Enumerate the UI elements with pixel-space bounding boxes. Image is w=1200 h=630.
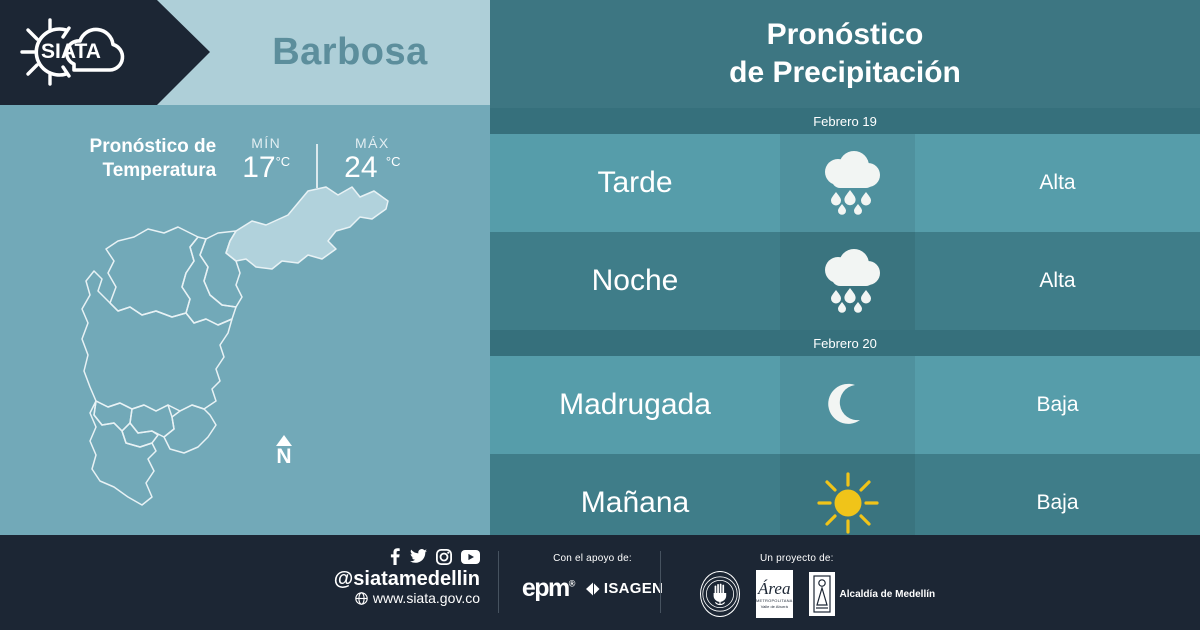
social-handle[interactable]: @siatamedellin <box>330 568 480 590</box>
area-logo-sub2: Valle de Aburrá <box>761 604 788 609</box>
temperature-min-unit: °C <box>276 154 291 169</box>
isagen-mark-icon <box>586 582 601 596</box>
footer-divider <box>498 551 499 613</box>
support-logos: epm® ISAGEN <box>505 576 680 601</box>
rain-cloud-icon <box>780 232 915 330</box>
epm-logo: epm® <box>522 576 574 601</box>
project-logos: Área METROPOLITANA Valle de Aburrá Alcal… <box>700 570 930 618</box>
municipality-caldas <box>90 401 156 505</box>
facebook-icon[interactable] <box>388 548 401 565</box>
isagen-logo-text: ISAGEN <box>604 580 663 597</box>
temperature-max-unit: °C <box>386 154 401 169</box>
city-title: Barbosa <box>210 0 490 105</box>
alcaldia-de-medellin-logo: Alcaldía de Medellín <box>809 572 936 616</box>
area-logo-sub1: METROPOLITANA <box>756 598 793 603</box>
siata-logo-text: SIATA <box>41 40 101 63</box>
siata-logo-badge: SIATA <box>0 0 210 105</box>
social-website[interactable]: www.siata.gov.co <box>330 590 480 606</box>
weather-forecast-infographic: SIATA Barbosa Pronóstico de Temperatura … <box>0 0 1200 630</box>
municipality-bello <box>106 227 198 317</box>
universidad-de-medellin-seal <box>700 571 740 617</box>
municipality-barbosa <box>226 187 388 269</box>
table-row: Noche <box>490 232 1200 330</box>
left-header: SIATA Barbosa <box>0 0 490 105</box>
temperature-min-label: MÍN <box>251 135 281 151</box>
temperature-max-label: MÁX <box>355 135 390 151</box>
probability-label: Baja <box>915 356 1200 454</box>
date-band: Febrero 20 <box>490 330 1200 356</box>
footer-divider <box>660 551 661 613</box>
twitter-icon[interactable] <box>410 549 427 564</box>
alcaldia-logo-text: Alcaldía de Medellín <box>840 589 936 600</box>
left-body: Pronóstico de Temperatura MÍN 17°C MÁX 2… <box>0 105 490 535</box>
precipitation-title: Pronóstico de Precipitación <box>490 0 1200 108</box>
precipitation-panel: Pronóstico de Precipitación Febrero 19 T… <box>490 0 1200 535</box>
north-arrow: N <box>276 435 292 467</box>
date-band: Febrero 19 <box>490 108 1200 134</box>
social-icons <box>330 548 480 565</box>
youtube-icon[interactable] <box>461 550 480 564</box>
social-block: @siatamedellin www.siata.gov.co <box>330 548 480 606</box>
globe-icon <box>355 592 368 605</box>
area-metropolitana-logo: Área METROPOLITANA Valle de Aburrá <box>756 570 793 618</box>
precipitation-title-line1: Pronóstico <box>767 16 924 54</box>
table-row: Tarde <box>490 134 1200 232</box>
table-row: Madrugada Baja <box>490 356 1200 454</box>
north-arrow-label: N <box>276 447 291 467</box>
left-panel: SIATA Barbosa Pronóstico de Temperatura … <box>0 0 490 535</box>
instagram-icon[interactable] <box>436 549 452 565</box>
precipitation-title-line2: de Precipitación <box>729 54 961 92</box>
probability-label: Alta <box>915 232 1200 330</box>
probability-label: Alta <box>915 134 1200 232</box>
project-block: Un proyecto de: <box>700 553 930 618</box>
alcaldia-crest-icon <box>809 572 835 616</box>
aburra-valley-map <box>60 175 430 525</box>
period-label: Noche <box>490 232 780 330</box>
area-logo-script: Área <box>758 580 790 597</box>
rain-cloud-icon <box>780 134 915 232</box>
isagen-logo: ISAGEN <box>586 580 663 597</box>
municipality-envigado <box>164 405 216 453</box>
temperature-title-line1: Pronóstico de <box>90 135 217 159</box>
support-block: Con el apoyo de: epm® ISAGEN <box>505 553 680 601</box>
epm-logo-text: epm <box>522 574 569 602</box>
footer: @siatamedellin www.siata.gov.co Con el a… <box>0 535 1200 630</box>
period-label: Tarde <box>490 134 780 232</box>
crescent-moon-icon <box>780 356 915 454</box>
siata-logo: SIATA <box>14 12 134 92</box>
social-website-text: www.siata.gov.co <box>373 590 480 606</box>
municipality-la-estrella <box>94 401 132 431</box>
project-caption: Un proyecto de: <box>700 553 930 564</box>
forecast-table: Febrero 19 Tarde <box>490 108 1200 552</box>
period-label: Madrugada <box>490 356 780 454</box>
support-caption: Con el apoyo de: <box>505 553 680 564</box>
